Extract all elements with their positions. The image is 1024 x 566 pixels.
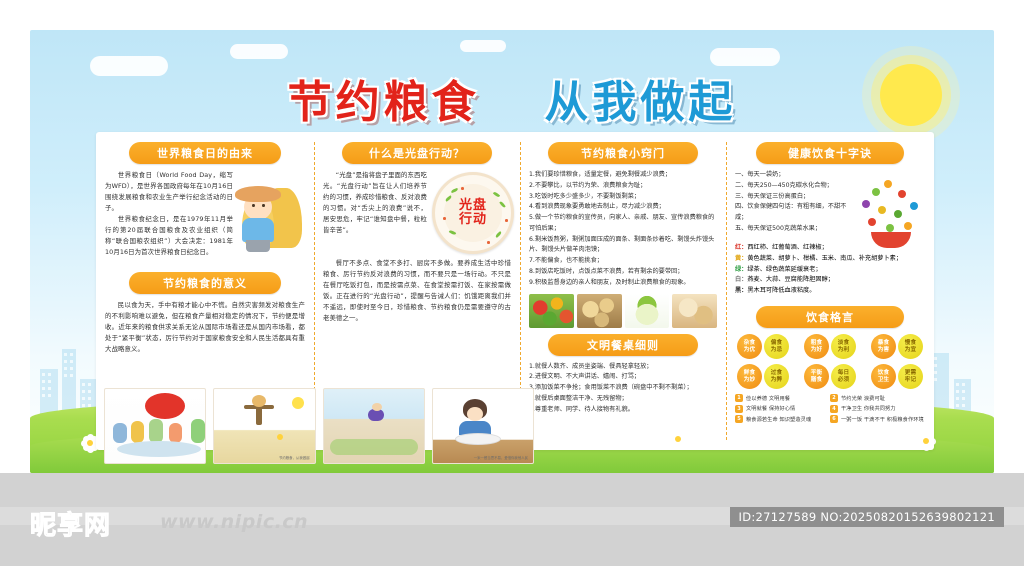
list-item: 6 一粥一饭 干滴不干 积极粮食作环境	[830, 415, 925, 423]
nipic-logo: 昵享网	[30, 505, 111, 542]
color-line-key: 红：	[735, 244, 747, 251]
color-line-yellow: 黄：黄色蔬菜、胡萝卜、柑橘、玉米、南瓜、补充胡萝卜素；	[735, 254, 925, 265]
list-item: 3 文明就餐 保持好心情	[735, 405, 830, 413]
civilized-dining-rules-list: 1.就餐人数齐、成员坐姿端、餐具轻拿轻放； 2.进餐文明、不大声讲话、嬉闹、打骂…	[529, 362, 717, 416]
clear-plate-graphic: 光盘 行动	[432, 172, 514, 254]
list-item: 二、每天250—450克碳水化合物；	[735, 181, 849, 192]
color-line-text: 西红柿、红葡萄酒、红辣椒；	[747, 244, 827, 251]
item-number: 4	[830, 405, 838, 413]
meaning-body-text: 民以食为天，手中有粮才能心中不慌。自然灾害频发对粮食生产的不利影响难以避免，但在…	[105, 300, 305, 355]
list-item: 1.就餐人数齐、成员坐姿端、餐具轻拿轻放；	[529, 362, 717, 373]
color-line-text: 绿茶、绿色蔬菜延缓衰老；	[747, 266, 821, 273]
poster-title: 节约粮食 从我做起	[30, 66, 994, 130]
motto-line-2: 为弊	[771, 377, 783, 383]
family-dinner-illustration	[104, 388, 206, 464]
motto-line-2: 牢记	[905, 377, 917, 383]
list-item: 四、饮食保健四句话：有粗有细，不甜不咸；	[735, 202, 849, 224]
item-text: 节约光荣 浪费可耻	[841, 395, 885, 402]
motto-line-2: 必须	[838, 377, 850, 383]
motto-line-2: 为宜	[905, 347, 917, 353]
clear-plate-para-2: 餐厅不多点、食堂不多打、厨房不多做。要养成生活中珍惜粮食、厉行节约反对浪费的习惯…	[323, 258, 511, 324]
motto-badge: 更需 牢记	[898, 364, 923, 389]
numbered-slogan-list: 1 俭以养德 文明用餐 2 节约光荣 浪费可耻 3 文明就餐 保持好心情 4 干…	[735, 394, 925, 426]
cabbage-photo	[625, 294, 670, 328]
bottom-picture-strip: 节约粮食，从我做起 一米一餐当思不易，爱惜你我他人民	[104, 388, 534, 464]
item-text: 干净卫生 你我共同努力	[841, 405, 896, 412]
title-blue-text: 从我做起	[544, 77, 736, 128]
nipic-url: www.nipic.cn	[160, 511, 308, 533]
list-item: 4 干净卫生 你我共同努力	[830, 405, 925, 413]
poster-board: 节约粮食 从我做起	[30, 30, 994, 473]
motto-badge: 慢食 为宜	[898, 334, 923, 359]
list-item: 9.积极监督身边的亲人和朋友，及时制止浪费粮食的现象。	[529, 278, 717, 289]
motto-line-2: 膳食	[811, 377, 823, 383]
item-number: 1	[735, 394, 743, 402]
section-header-food-saving-tips: 节约粮食小窍门	[548, 142, 698, 164]
image-id-badge: ID:27127589 NO:20250820152639802121	[730, 507, 1004, 527]
motto-badge: 淡食 为利	[831, 334, 856, 359]
color-line-key: 黑：	[735, 287, 747, 294]
item-number: 3	[735, 405, 743, 413]
color-line-text: 黄色蔬菜、胡萝卜、柑橘、玉米、南瓜、补充胡萝卜素；	[747, 255, 902, 262]
list-item: 7.不能偏食，也不能挑食；	[529, 256, 717, 267]
column-4: 健康饮食十字诀 一、每天一袋奶； 二、每天250—450克碳	[726, 132, 934, 450]
item-text: 俭以养德 文明用餐	[746, 395, 790, 402]
motto-badge: 偏食 为忌	[764, 334, 789, 359]
section-header-origin-of-world-food-day: 世界粮食日的由来	[129, 142, 281, 164]
origin-para-2: 世界粮食纪念日，是在1979年11月举行的第20届联合国粮食及农业组织（简称“联…	[105, 214, 233, 258]
clear-plate-body-text-2: 餐厅不多点、食堂不多打、厨房不多做。要养成生活中珍惜粮食、厉行节约反对浪费的习惯…	[323, 258, 511, 324]
color-line-key: 绿：	[735, 266, 747, 273]
picture-caption: 节约粮食，从我做起	[279, 455, 310, 460]
plate-text-line-1: 光盘	[459, 199, 487, 213]
list-item: 3.吃饭时吃多少盛多少，不要剩饭剩菜；	[529, 192, 717, 203]
motto-line-2: 卫生	[878, 377, 890, 383]
rice-planting-illustration	[323, 388, 425, 464]
motto-badge: 杂食 为优	[737, 334, 762, 359]
food-saving-tips-list: 1.我们要珍惜粮食，适量定餐，避免剩餐减少浪费； 2.不要攀比，以节约为荣、浪费…	[529, 170, 717, 289]
color-line-key: 黄：	[735, 255, 747, 262]
motto-line-2: 为利	[838, 347, 850, 353]
column-3: 节约粮食小窍门 1.我们要珍惜粮食，适量定餐，避免剩餐减少浪费； 2.不要攀比，…	[520, 132, 726, 450]
motto-badge: 平衡 膳食	[804, 364, 829, 389]
list-item: 一、每天一袋奶；	[735, 170, 849, 181]
list-item: 2.进餐文明、不大声讲话、嬉闹、打骂；	[529, 372, 717, 383]
vegetables-photo	[529, 294, 574, 328]
item-text: 粮食源若生命 知识塑造灵魂	[746, 416, 811, 423]
motto-line-2: 为好	[811, 347, 823, 353]
motto-line-2: 为优	[744, 347, 756, 353]
color-line-black: 黑：黑木耳可降低血液粘度。	[735, 286, 925, 297]
cloud-icon	[460, 40, 506, 52]
cloud-icon	[230, 44, 288, 59]
clear-plate-para-1: “光盘”是指将盘子里面的东西吃光。“光盘行动”旨在让人们培养节约的习惯，养成珍惜…	[323, 170, 427, 236]
motto-badge: 暴食 为害	[871, 334, 896, 359]
scarecrow-wheat-field-illustration: 节约粮食，从我做起	[213, 388, 315, 464]
motto-line-2: 为忌	[771, 347, 783, 353]
list-item: 五、每天保证500克蔬菜水果；	[735, 224, 849, 235]
potatoes-photo	[577, 294, 622, 328]
motto-badge: 粗食 为好	[804, 334, 829, 359]
food-photo-strip	[529, 294, 717, 328]
watermark-band: 昵享网 www.nipic.cn ID:27127589 NO:20250820…	[0, 473, 1024, 566]
color-line-text: 燕麦、大蒜、豆腐能降胆固醇；	[747, 276, 834, 283]
list-item: 5 粮食源若生命 知识塑造灵魂	[735, 415, 830, 423]
motto-row-2: 鲜食 为妙 过食 为弊 平衡 膳食	[737, 364, 923, 389]
section-header-healthy-eating-ten-rules: 健康饮食十字诀	[756, 142, 904, 164]
list-item: 5.尊重老师、同学、待人接物有礼貌。	[529, 405, 717, 416]
item-number: 5	[735, 415, 743, 423]
motto-line-2: 为妙	[744, 377, 756, 383]
list-item: 8.到饭店吃饭时，点饭点菜不浪费，若有剩余的要带回；	[529, 267, 717, 278]
motto-row-1: 杂食 为优 偏食 为忌 粗食 为好	[737, 334, 923, 359]
item-number: 6	[830, 415, 838, 423]
list-item: 1.我们要珍惜粮食，适量定餐，避免剩餐减少浪费；	[529, 170, 717, 181]
color-line-green: 绿：绿茶、绿色蔬菜延缓衰老；	[735, 265, 925, 276]
item-text: 一粥一饭 干滴不干 积极粮食作环境	[841, 416, 924, 423]
section-header-civilized-dining-rules: 文明餐桌细则	[548, 334, 698, 356]
motto-badge: 鲜食 为妙	[737, 364, 762, 389]
item-text: 文明就餐 保持好心情	[746, 405, 795, 412]
list-item: 2.不要攀比，以节约为荣、浪费粮食为耻；	[529, 181, 717, 192]
origin-para-1: 世界粮食日（World Food Day，缩写为WFD），是世界各国政府每年在1…	[105, 170, 233, 214]
screenshot-stage: 节约粮食 从我做起	[0, 0, 1024, 566]
cloud-icon	[710, 48, 780, 66]
plate-text-line-2: 行动	[459, 213, 487, 227]
list-item: 4.就餐后桌面整洁干净、无残留物；	[529, 394, 717, 405]
picture-caption: 一米一餐当思不易，爱惜你我他人民	[474, 455, 528, 460]
section-header-diet-mottos: 饮食格言	[756, 306, 904, 328]
grain-bowl-photo	[672, 294, 717, 328]
motto-badge: 饮食 卫生	[871, 364, 896, 389]
list-item: 三、每天保证三份高蛋白；	[735, 192, 849, 203]
list-item: 5.做一个节约粮食的宣传员，向家人、亲戚、朋友、宣传浪费粮食的可怕后果；	[529, 213, 717, 235]
list-item: 3.添加饭菜不争抢；食用饭菜不浪费（碗盘中不剩不剩菜）；	[529, 383, 717, 394]
farmer-with-wheat-illustration	[236, 174, 308, 252]
color-line-text: 黑木耳可降低血液粘度。	[747, 287, 815, 294]
vegetable-bowl-illustration	[854, 174, 928, 250]
color-food-lines: 红：西红柿、红葡萄酒、红辣椒； 黄：黄色蔬菜、胡萝卜、柑橘、玉米、南瓜、补充胡萝…	[735, 243, 925, 298]
boy-clean-plate-illustration: 一米一餐当思不易，爱惜你我他人民	[432, 388, 534, 464]
list-item: 4.看到浪费现象要勇敢地去制止，尽力减少浪费；	[529, 202, 717, 213]
title-red-text: 节约粮食	[288, 77, 480, 128]
motto-badge: 过食 为弊	[764, 364, 789, 389]
motto-badge: 每日 必须	[831, 364, 856, 389]
list-item: 6.剩米饭熬粥，剩粥加面压成的面条、剩面条炒着吃、剩馒头炸馒头片、剩馒头片做羊肉…	[529, 235, 717, 257]
section-header-meaning-of-saving-food: 节约粮食的意义	[129, 272, 281, 294]
list-item: 2 节约光荣 浪费可耻	[830, 394, 925, 402]
color-line-key: 白：	[735, 276, 747, 283]
meaning-para-1: 民以食为天，手中有粮才能心中不慌。自然灾害频发对粮食生产的不利影响难以避免，但在…	[105, 300, 305, 355]
motto-line-2: 为害	[878, 347, 890, 353]
list-item: 1 俭以养德 文明用餐	[735, 394, 830, 402]
color-line-white: 白：燕麦、大蒜、豆腐能降胆固醇；	[735, 275, 925, 286]
section-header-what-is-clear-plate-action: 什么是光盘行动？	[342, 142, 492, 164]
item-number: 2	[830, 394, 838, 402]
